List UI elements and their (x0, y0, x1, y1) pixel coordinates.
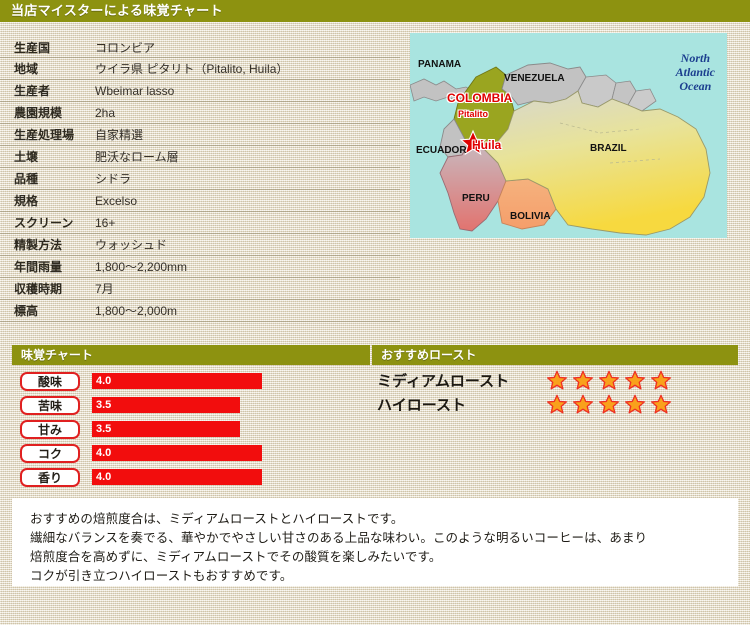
spec-value: 自家精選 (95, 126, 143, 143)
spec-value: Excelso (95, 194, 137, 208)
map-label-brazil: BRAZIL (590, 143, 627, 154)
map-label-ecuador: ECUADOR (416, 145, 467, 156)
spec-label: 農園規模 (0, 104, 95, 121)
spec-label: 地域 (0, 60, 95, 77)
taste-row: 苦味3.5 (12, 393, 372, 417)
spec-label: 収穫時期 (0, 280, 95, 297)
taste-chart-heading: 味覚チャート (12, 345, 370, 365)
spec-value: シドラ (95, 170, 131, 187)
spec-label: 規格 (0, 192, 95, 209)
star-icon (547, 394, 567, 414)
taste-bar-track: 4.0 (92, 373, 372, 389)
spec-value: ウォッシュド (95, 236, 167, 253)
spec-table: 生産国コロンビア地域ウイラ県 ピタリト（Pitalito, Huila）生産者W… (0, 36, 400, 322)
spec-label: 生産処理場 (0, 126, 95, 143)
taste-label-pill: コク (20, 444, 80, 463)
map-label-huila: Huila (472, 138, 501, 152)
star-icon (599, 394, 619, 414)
page-title: 当店マイスターによる味覚チャート (0, 0, 750, 22)
taste-label-pill: 香り (20, 468, 80, 487)
map-label-peru: PERU (462, 193, 490, 204)
map-label-panama: PANAMA (418, 59, 461, 70)
spec-label: 生産国 (0, 39, 95, 56)
spec-row: 規格Excelso (0, 190, 400, 212)
spec-row: 地域ウイラ県 ピタリト（Pitalito, Huila） (0, 58, 400, 80)
spec-row: 精製方法ウォッシュド (0, 234, 400, 256)
map-label-venezuela: VENEZUELA (504, 73, 565, 84)
ocean-label: North Atlantic Ocean (676, 51, 715, 93)
taste-bar: 3.5 (92, 397, 240, 413)
taste-bar-track: 3.5 (92, 397, 372, 413)
spec-label: 土壌 (0, 148, 95, 165)
taste-row: 酸味4.0 (12, 369, 372, 393)
star-icon (625, 370, 645, 390)
roast-name: ミディアムロースト (372, 370, 547, 391)
star-icon (573, 394, 593, 414)
taste-label-pill: 酸味 (20, 372, 80, 391)
spec-value: 2ha (95, 106, 115, 120)
spec-label: 年間雨量 (0, 258, 95, 275)
spec-value: 肥沃なローム層 (95, 148, 179, 165)
taste-bar-track: 4.0 (92, 445, 372, 461)
taste-row: コク4.0 (12, 441, 372, 465)
spec-value: 16+ (95, 216, 115, 230)
map-label-bolivia: BOLIVIA (510, 211, 551, 222)
south-america-map: North Atlantic Ocean PANAMA VENEZUELA CO… (410, 33, 727, 238)
spec-value: 1,800〜2,200mm (95, 258, 187, 275)
taste-label-pill: 苦味 (20, 396, 80, 415)
taste-row: 甘み3.5 (12, 417, 372, 441)
taste-bar: 4.0 (92, 469, 262, 485)
star-icon (651, 394, 671, 414)
star-icon (573, 370, 593, 390)
star-icon (547, 370, 567, 390)
roast-star-rating (547, 370, 671, 390)
description-line: コクが引き立つハイローストもおすすめです。 (30, 567, 720, 586)
map-label-colombia: COLOMBIA (447, 91, 512, 105)
taste-label-pill: 甘み (20, 420, 80, 439)
roast-row: ミディアムロースト (372, 368, 742, 392)
taste-bar: 4.0 (92, 373, 262, 389)
description-line: 焙煎度合を高めずに、ミディアムローストでその酸質を楽しみたいです。 (30, 548, 720, 567)
spec-value: 7月 (95, 280, 114, 297)
spec-label: スクリーン (0, 214, 95, 231)
star-icon (651, 370, 671, 390)
spec-row: 品種シドラ (0, 168, 400, 190)
taste-chart: 酸味4.0苦味3.5甘み3.5コク4.0香り4.0 (12, 369, 372, 489)
spec-row: スクリーン16+ (0, 212, 400, 234)
taste-bar: 3.5 (92, 421, 240, 437)
description-line: 繊細なバランスを奏でる、華やかでやさしい甘さのある上品な味わい。このような明るい… (30, 529, 720, 548)
spec-value: ウイラ県 ピタリト（Pitalito, Huila） (95, 60, 288, 77)
roast-row: ハイロースト (372, 392, 742, 416)
spec-label: 標高 (0, 302, 95, 319)
taste-bar-track: 3.5 (92, 421, 372, 437)
map-label-pitalito: Pitalito (458, 109, 488, 119)
taste-bar-track: 4.0 (92, 469, 372, 485)
spec-row: 生産処理場自家精選 (0, 124, 400, 146)
roast-star-rating (547, 394, 671, 414)
spec-value: Wbeimar lasso (95, 84, 174, 98)
roast-heading: おすすめロースト (372, 345, 738, 365)
spec-value: コロンビア (95, 39, 155, 56)
spec-value: 1,800〜2,000m (95, 302, 177, 319)
roast-name: ハイロースト (372, 394, 547, 415)
star-icon (625, 394, 645, 414)
roast-rating-list: ミディアムローストハイロースト (372, 368, 742, 416)
spec-row: 収穫時期7月 (0, 278, 400, 300)
taste-row: 香り4.0 (12, 465, 372, 489)
spec-row: 土壌肥沃なローム層 (0, 146, 400, 168)
spec-label: 精製方法 (0, 236, 95, 253)
spec-row: 農園規模2ha (0, 102, 400, 124)
description-box: おすすめの焙煎度合は、ミディアムローストとハイローストです。繊細なバランスを奏で… (12, 498, 738, 586)
spec-label: 品種 (0, 170, 95, 187)
description-line: おすすめの焙煎度合は、ミディアムローストとハイローストです。 (30, 510, 720, 529)
spec-row: 標高1,800〜2,000m (0, 300, 400, 322)
star-icon (599, 370, 619, 390)
spec-row: 年間雨量1,800〜2,200mm (0, 256, 400, 278)
spec-row: 生産国コロンビア (0, 36, 400, 58)
taste-bar: 4.0 (92, 445, 262, 461)
spec-row: 生産者Wbeimar lasso (0, 80, 400, 102)
spec-label: 生産者 (0, 82, 95, 99)
